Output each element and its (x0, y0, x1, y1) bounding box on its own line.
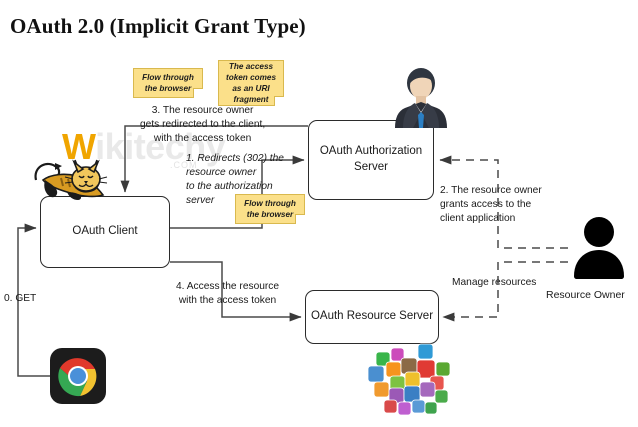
step3-line3: with the access token (154, 133, 251, 144)
step-label-0-get: 0. GET (4, 292, 36, 306)
step1-line2: resource owner (186, 167, 256, 178)
note-flow-through-browser-top: Flow through the browser (133, 68, 203, 98)
node-oauth-authorization-server[interactable]: OAuth Authorization Server (308, 120, 434, 200)
step2-line3: client application (440, 213, 515, 224)
note-flow-1-text: Flow through the browser (142, 72, 194, 94)
note-flow-1-line2: the browser (145, 84, 191, 93)
note-token-line1: The access (229, 62, 273, 71)
note-flow-2-line2: the browser (247, 210, 293, 219)
note-token-line3: as an URI (232, 84, 269, 93)
edge-label-manage-resources: Manage resources (452, 276, 536, 290)
label-resource-owner: Resource Owner (546, 288, 625, 302)
step3-line1: 3. The resource owner (152, 105, 254, 116)
node-oauth-authorization-server-label: OAuth Authorization Server (320, 144, 422, 175)
step2-line2: grants access to the (440, 199, 531, 210)
node-oauth-client-label: OAuth Client (72, 224, 137, 240)
auth-server-label-line1: OAuth Authorization (320, 145, 422, 157)
step3-line2: gets redirected to the client, (140, 119, 265, 130)
step4-line1: 4. Access the resource (176, 281, 279, 292)
businessman-icon (393, 66, 449, 128)
diagram-canvas: OAuth 2.0 (Implicit Grant Type) Wikitech… (0, 0, 638, 427)
note-flow-1-line1: Flow through (142, 73, 194, 82)
user-silhouette-icon (568, 216, 630, 280)
step2-line1: 2. The resource owner (440, 185, 542, 196)
note-token-line2: token comes (226, 73, 276, 82)
step-label-4-access-resource: 4. Access the resource with the access t… (176, 280, 279, 308)
step1-line1: 1. Redirects (302) the (186, 153, 284, 164)
step1-line3: to the authorization (186, 181, 273, 192)
step4-line2: with the access token (179, 295, 276, 306)
step-label-1-redirects: 1. Redirects (302) the resource owner to… (186, 152, 284, 208)
chrome-icon[interactable] (50, 348, 106, 404)
note-access-token-uri-fragment: The access token comes as an URI fragmen… (218, 60, 284, 106)
note-token-text: The access token comes as an URI fragmen… (226, 61, 276, 105)
auth-server-label-line2: Server (354, 161, 388, 173)
step0-line1: 0. GET (4, 293, 36, 304)
note-token-line4: fragment (233, 95, 268, 104)
step1-line4: server (186, 195, 214, 206)
tomcat-icon (31, 150, 127, 212)
app-icons-cluster-icon (360, 338, 456, 420)
step-label-2-grants-access: 2. The resource owner grants access to t… (440, 184, 542, 226)
node-oauth-resource-server-label: OAuth Resource Server (311, 309, 433, 325)
step-label-3-redirected-to-client: 3. The resource owner gets redirected to… (140, 104, 265, 146)
node-oauth-resource-server[interactable]: OAuth Resource Server (305, 290, 439, 344)
